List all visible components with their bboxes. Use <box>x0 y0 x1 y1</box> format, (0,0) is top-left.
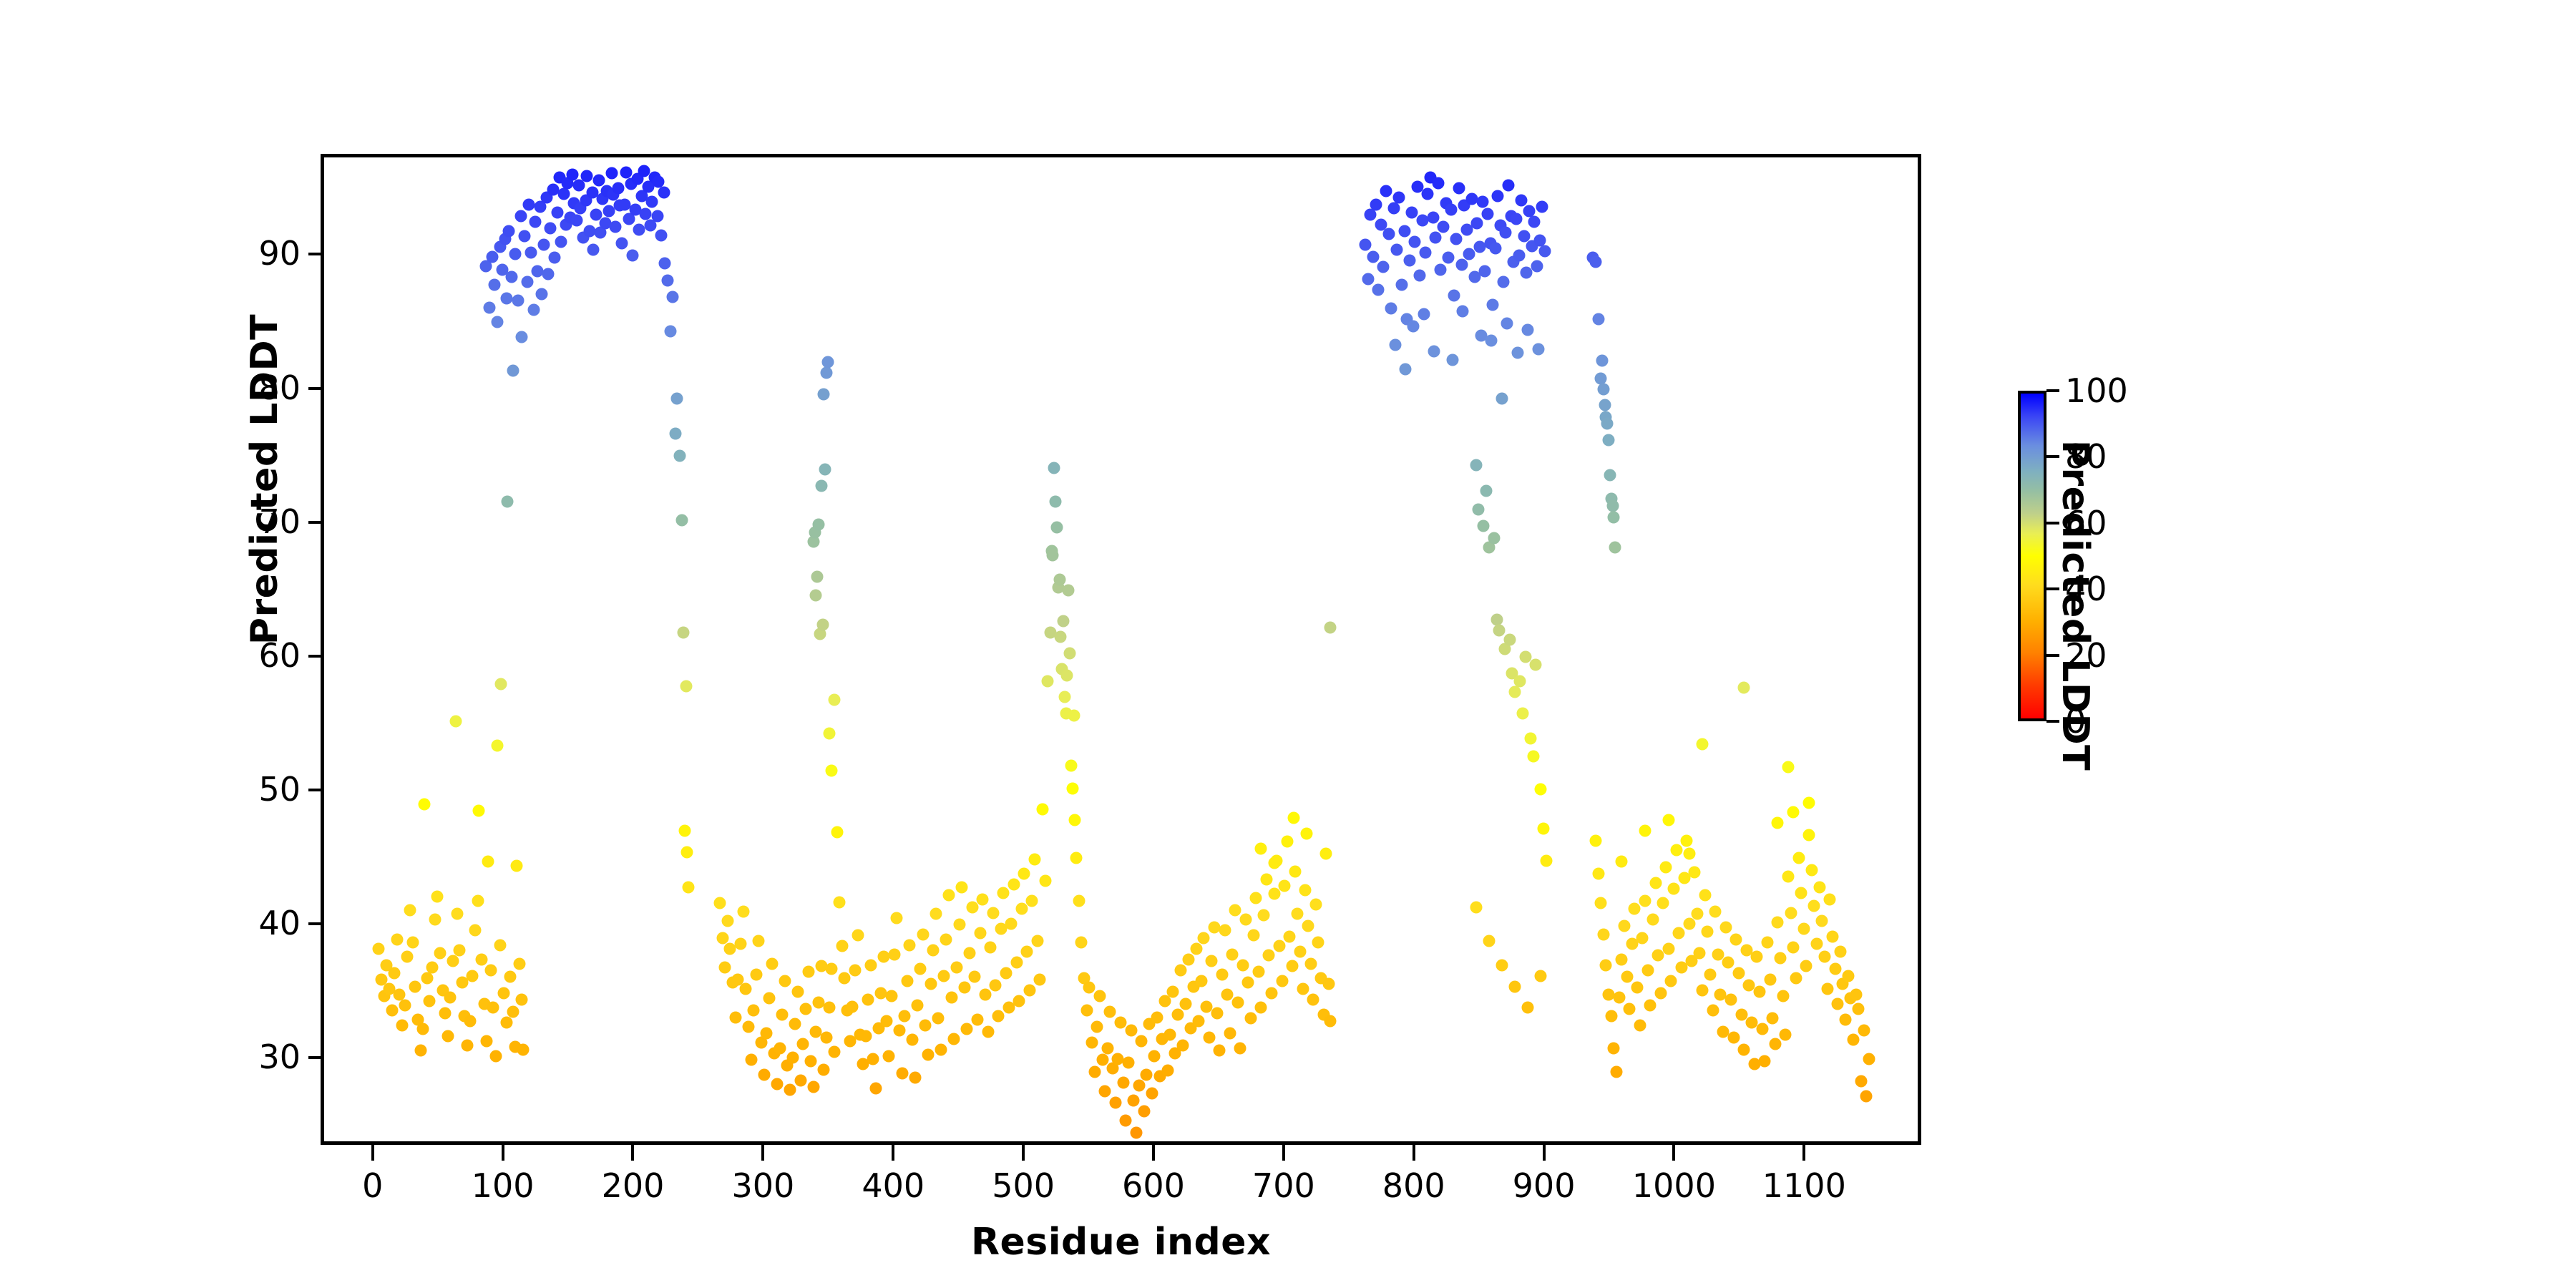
scatter-point <box>521 276 533 288</box>
scatter-point <box>1517 707 1529 719</box>
scatter-point <box>823 727 835 739</box>
scatter-point <box>1393 192 1405 204</box>
scatter-point <box>1699 889 1711 902</box>
scatter-point <box>1023 985 1035 997</box>
scatter-point <box>1816 914 1828 927</box>
scatter-point <box>1769 1038 1781 1050</box>
scatter-point <box>1787 806 1800 819</box>
scatter-point <box>1503 633 1516 645</box>
scatter-point <box>819 464 831 476</box>
scatter-point <box>1010 956 1023 968</box>
scatter-point <box>852 930 864 942</box>
scatter-point <box>1435 264 1447 276</box>
scatter-point <box>1093 990 1106 1002</box>
y-axis-tick-label: 50 <box>129 773 301 806</box>
scatter-point <box>1832 997 1844 1010</box>
scatter-point <box>1216 968 1228 980</box>
y-axis-tick-label: 80 <box>129 371 301 404</box>
scatter-point <box>1629 902 1641 914</box>
scatter-point <box>1214 1045 1226 1057</box>
scatter-point <box>1406 206 1418 218</box>
scatter-point <box>441 1030 454 1042</box>
scatter-point <box>472 894 484 907</box>
scatter-point <box>811 570 824 582</box>
scatter-point <box>633 224 645 236</box>
scatter-point <box>992 1010 1005 1022</box>
scatter-point <box>1053 573 1065 585</box>
scatter-point <box>1061 670 1073 682</box>
scatter-point <box>1000 967 1012 979</box>
scatter-point <box>1646 913 1659 925</box>
scatter-point <box>503 225 515 237</box>
scatter-point <box>1221 988 1234 1000</box>
scatter-point <box>646 195 658 208</box>
scatter-point <box>1115 1017 1127 1029</box>
scatter-point <box>680 680 692 693</box>
scatter-point <box>1818 951 1830 963</box>
scatter-point <box>1387 203 1400 215</box>
scatter-point <box>509 248 522 260</box>
scatter-point <box>1104 1006 1116 1018</box>
scatter-point <box>1367 250 1379 263</box>
scatter-point <box>507 364 519 376</box>
scatter-point <box>1026 894 1038 907</box>
scatter-point <box>1754 986 1766 998</box>
scatter-point <box>899 1010 911 1022</box>
scatter-point <box>831 826 843 839</box>
scatter-point <box>1138 1105 1150 1117</box>
scatter-point <box>662 275 674 287</box>
scatter-point <box>1510 213 1522 225</box>
scatter-point <box>386 1005 398 1017</box>
scatter-point <box>979 988 991 1000</box>
scatter-point <box>1803 829 1815 841</box>
scatter-point <box>1860 1091 1873 1103</box>
scatter-point <box>1276 975 1288 987</box>
scatter-point <box>1707 1005 1719 1017</box>
scatter-point <box>548 252 560 264</box>
scatter-point <box>495 678 507 690</box>
scatter-point <box>1109 1097 1121 1109</box>
scatter-point <box>399 999 411 1011</box>
scatter-point <box>1193 1015 1205 1028</box>
scatter-point <box>1792 852 1805 864</box>
scatter-point <box>1250 892 1262 904</box>
scatter-point <box>1516 194 1528 206</box>
scatter-point <box>1263 950 1275 962</box>
scatter-point <box>1018 868 1030 880</box>
scatter-point <box>1639 825 1651 837</box>
scatter-point <box>834 896 846 908</box>
scatter-point <box>810 590 822 602</box>
scatter-point <box>917 928 929 940</box>
scatter-point <box>1488 532 1501 544</box>
scatter-point <box>1616 954 1628 966</box>
scatter-point <box>517 1043 530 1055</box>
scatter-point <box>1453 182 1465 195</box>
scatter-point <box>502 496 514 508</box>
scatter-point <box>1237 959 1249 971</box>
scatter-point <box>1370 198 1382 210</box>
scatter-point <box>1797 923 1810 935</box>
scatter-point <box>1662 943 1674 955</box>
scatter-point <box>1260 873 1272 885</box>
scatter-point <box>490 1050 502 1062</box>
scatter-point <box>570 214 582 226</box>
scatter-point <box>901 975 913 987</box>
colorbar-tick <box>2046 389 2059 392</box>
scatter-point <box>1863 1053 1875 1065</box>
scatter-point <box>1473 504 1485 516</box>
scatter-point <box>1618 920 1630 932</box>
scatter-point <box>1738 682 1750 694</box>
scatter-point <box>1644 999 1657 1011</box>
scatter-point <box>776 1008 789 1020</box>
scatter-point <box>1088 1066 1101 1078</box>
scatter-point <box>658 186 670 198</box>
scatter-point <box>464 1015 476 1028</box>
scatter-point <box>1800 960 1813 972</box>
scatter-point <box>1665 975 1677 987</box>
scatter-point <box>821 1031 833 1043</box>
scatter-point <box>813 518 825 530</box>
scatter-point <box>469 924 481 936</box>
scatter-point <box>1775 952 1787 965</box>
scatter-point <box>396 1019 409 1031</box>
scatter-point <box>1608 1042 1620 1054</box>
scatter-point <box>667 291 679 303</box>
scatter-point <box>683 882 695 894</box>
scatter-point <box>1255 842 1267 854</box>
x-axis-tick <box>502 1145 504 1161</box>
scatter-point <box>1624 1003 1636 1015</box>
scatter-point <box>1489 243 1501 255</box>
scatter-point <box>969 971 981 983</box>
scatter-point <box>826 963 838 975</box>
scatter-point <box>426 962 438 974</box>
scatter-point <box>826 765 838 777</box>
scatter-point <box>681 847 693 859</box>
y-axis-tick-label: 70 <box>129 505 301 538</box>
scatter-point <box>966 902 978 914</box>
scatter-point <box>1055 631 1067 643</box>
scatter-point <box>1177 1039 1189 1051</box>
scatter-point <box>737 905 749 917</box>
scatter-point <box>1824 893 1836 905</box>
scatter-point <box>1601 418 1614 430</box>
scatter-point <box>1174 965 1186 977</box>
scatter-point <box>1639 894 1651 907</box>
scatter-point <box>891 912 903 924</box>
scatter-point <box>1767 1013 1779 1025</box>
scatter-point <box>1190 943 1202 955</box>
scatter-point <box>610 221 622 233</box>
scatter-point <box>1478 519 1490 532</box>
scatter-point <box>771 1078 783 1091</box>
scatter-point <box>429 913 441 925</box>
scatter-point <box>904 939 916 951</box>
scatter-point <box>1422 187 1434 200</box>
scatter-point <box>1497 276 1509 288</box>
scatter-point <box>1476 195 1488 208</box>
scatter-point <box>948 1033 960 1045</box>
scatter-point <box>1266 987 1278 999</box>
scatter-point <box>1522 1002 1534 1014</box>
scatter-point <box>1400 363 1412 375</box>
scatter-point <box>424 995 436 1008</box>
scatter-point <box>1448 289 1460 301</box>
scatter-points-layer <box>324 157 1918 1141</box>
scatter-point <box>527 304 540 316</box>
scatter-point <box>748 1005 760 1017</box>
scatter-point <box>799 1003 811 1015</box>
scatter-point <box>1719 922 1732 934</box>
scatter-point <box>673 450 686 462</box>
scatter-point <box>1414 269 1426 281</box>
scatter-point <box>1519 651 1531 663</box>
scatter-point <box>1409 235 1421 248</box>
scatter-point <box>912 999 924 1011</box>
scatter-point <box>1068 710 1080 722</box>
scatter-point <box>483 301 495 313</box>
scatter-point <box>964 947 976 959</box>
scatter-point <box>807 1080 819 1093</box>
scatter-point <box>500 1017 512 1029</box>
scatter-point <box>716 932 728 945</box>
scatter-point <box>1535 784 1547 796</box>
scatter-point <box>1050 521 1063 533</box>
scatter-point <box>1101 1042 1113 1054</box>
scatter-point <box>864 959 877 971</box>
scatter-point <box>1359 238 1371 250</box>
scatter-point <box>888 948 900 960</box>
scatter-point <box>789 1018 801 1030</box>
scatter-point <box>419 798 431 810</box>
scatter-point <box>587 244 600 256</box>
scatter-point <box>1527 750 1539 762</box>
scatter-point <box>1722 956 1735 968</box>
scatter-point <box>885 990 897 1002</box>
y-axis-title: Predicted LDDT <box>243 193 286 766</box>
scatter-point <box>1390 244 1402 256</box>
scatter-point <box>1509 686 1521 698</box>
x-axis-tick <box>1672 1145 1675 1161</box>
scatter-point <box>713 897 726 909</box>
scatter-point <box>542 268 554 280</box>
scatter-point <box>1847 1034 1859 1046</box>
scatter-point <box>1151 1011 1163 1023</box>
scatter-point <box>792 986 804 998</box>
scatter-point <box>1268 857 1280 869</box>
scatter-point <box>613 182 625 195</box>
scatter-point <box>605 167 618 180</box>
scatter-point <box>1304 957 1317 970</box>
scatter-point <box>551 206 563 218</box>
scatter-point <box>1662 814 1674 826</box>
scatter-point <box>1592 868 1604 880</box>
scatter-point <box>494 939 506 951</box>
scatter-point <box>942 889 955 902</box>
scatter-point <box>1287 960 1299 972</box>
scatter-point <box>1281 836 1293 848</box>
scatter-point <box>1075 936 1088 948</box>
scatter-point <box>1785 907 1797 919</box>
scatter-point <box>1122 1057 1134 1069</box>
scatter-point <box>1013 995 1025 1008</box>
scatter-point <box>1148 1050 1161 1062</box>
scatter-point <box>1657 897 1669 909</box>
scatter-point <box>1538 245 1551 258</box>
scatter-point <box>1206 955 1218 967</box>
scatter-point <box>670 392 683 404</box>
scatter-point <box>1198 932 1210 945</box>
scatter-point <box>1738 1043 1750 1055</box>
scatter-point <box>476 954 488 966</box>
scatter-point <box>721 914 733 927</box>
scatter-point <box>1589 255 1601 268</box>
scatter-point <box>862 994 874 1006</box>
scatter-point <box>491 316 503 328</box>
scatter-point <box>950 962 962 974</box>
scatter-point <box>1036 804 1048 816</box>
scatter-point <box>1513 249 1525 261</box>
scatter-point <box>677 627 689 639</box>
x-axis-tick <box>631 1145 634 1161</box>
scatter-point <box>1231 996 1244 1008</box>
scatter-point <box>1080 1005 1093 1017</box>
scatter-point <box>414 1045 426 1057</box>
scatter-point <box>1219 924 1231 936</box>
plot-area <box>321 154 1921 1145</box>
scatter-point <box>896 1068 908 1080</box>
scatter-point <box>1324 621 1336 633</box>
scatter-point <box>535 288 547 300</box>
scatter-point <box>1842 970 1854 982</box>
scatter-point <box>1096 1054 1108 1066</box>
scatter-point <box>1058 691 1070 703</box>
scatter-point <box>1070 852 1083 864</box>
scatter-point <box>818 389 830 401</box>
scatter-point <box>1610 1066 1622 1078</box>
scatter-point <box>417 1023 429 1035</box>
scatter-point <box>1599 399 1611 411</box>
scatter-point <box>1592 313 1604 326</box>
scatter-point <box>421 972 433 985</box>
scatter-point <box>1229 904 1241 916</box>
scatter-point <box>1372 284 1385 296</box>
scatter-point <box>924 977 937 990</box>
scatter-point <box>1751 951 1763 963</box>
scatter-point <box>391 934 403 946</box>
scatter-point <box>1487 298 1499 311</box>
scatter-point <box>1790 972 1802 985</box>
scatter-point <box>987 907 999 919</box>
scatter-point <box>1681 834 1693 847</box>
x-axis-tick <box>892 1145 894 1161</box>
scatter-point <box>1252 965 1264 977</box>
scatter-point <box>1226 948 1239 960</box>
scatter-point <box>1064 647 1076 659</box>
scatter-point <box>1813 882 1825 894</box>
scatter-point <box>849 965 862 977</box>
scatter-point <box>1641 965 1654 977</box>
scatter-point <box>907 1034 919 1046</box>
scatter-point <box>1616 856 1628 868</box>
scatter-point <box>758 1069 770 1081</box>
scatter-point <box>1667 882 1679 894</box>
scatter-point <box>847 1000 859 1013</box>
scatter-point <box>1407 320 1420 332</box>
y-axis-tick-label: 30 <box>129 1040 301 1073</box>
scatter-point <box>1438 221 1450 233</box>
scatter-point <box>794 1074 806 1086</box>
scatter-point <box>1377 261 1390 273</box>
scatter-point <box>1858 1025 1870 1037</box>
scatter-point <box>454 945 466 957</box>
scatter-point <box>763 992 775 1005</box>
scatter-point <box>525 246 537 258</box>
scatter-point <box>821 367 833 379</box>
x-axis-tick <box>1543 1145 1546 1161</box>
scatter-point <box>753 935 765 947</box>
scatter-point <box>1063 584 1075 596</box>
scatter-point <box>1535 970 1547 982</box>
scatter-point <box>1597 383 1609 395</box>
scatter-point <box>1120 1114 1132 1126</box>
scatter-point <box>1654 987 1667 999</box>
scatter-point <box>555 235 567 248</box>
scatter-point <box>982 1026 994 1038</box>
scatter-point <box>1091 1020 1103 1033</box>
scatter-point <box>932 1013 945 1025</box>
scatter-point <box>505 270 517 283</box>
scatter-point <box>659 257 671 269</box>
scatter-point <box>1538 822 1550 834</box>
scatter-point <box>507 1006 519 1018</box>
scatter-point <box>1362 273 1374 286</box>
scatter-point <box>1117 1077 1129 1089</box>
scatter-point <box>1600 959 1612 971</box>
scatter-point <box>1509 980 1521 992</box>
scatter-point <box>1485 335 1498 347</box>
scatter-point <box>1234 1042 1246 1054</box>
scatter-point <box>592 174 605 186</box>
scatter-point <box>1829 963 1841 975</box>
scatter-point <box>956 882 968 894</box>
scatter-point <box>1031 935 1043 947</box>
scatter-point <box>640 208 652 220</box>
scatter-point <box>1301 828 1313 840</box>
scatter-point <box>797 1038 809 1050</box>
scatter-point <box>1589 834 1601 847</box>
scatter-point <box>1073 894 1085 907</box>
scatter-point <box>1531 260 1543 272</box>
scatter-point <box>1782 871 1795 883</box>
scatter-point <box>482 856 494 868</box>
scatter-point <box>1239 913 1252 925</box>
scatter-point <box>1787 942 1800 954</box>
scatter-point <box>497 987 509 999</box>
scatter-point <box>1522 324 1534 336</box>
scatter-point <box>512 295 524 307</box>
scatter-point <box>1136 1035 1148 1048</box>
scatter-point <box>404 904 416 916</box>
scatter-point <box>953 919 965 931</box>
scatter-point <box>1284 931 1296 943</box>
scatter-point <box>961 1023 973 1035</box>
scatter-point <box>1683 848 1695 860</box>
scatter-point <box>1756 1023 1768 1035</box>
